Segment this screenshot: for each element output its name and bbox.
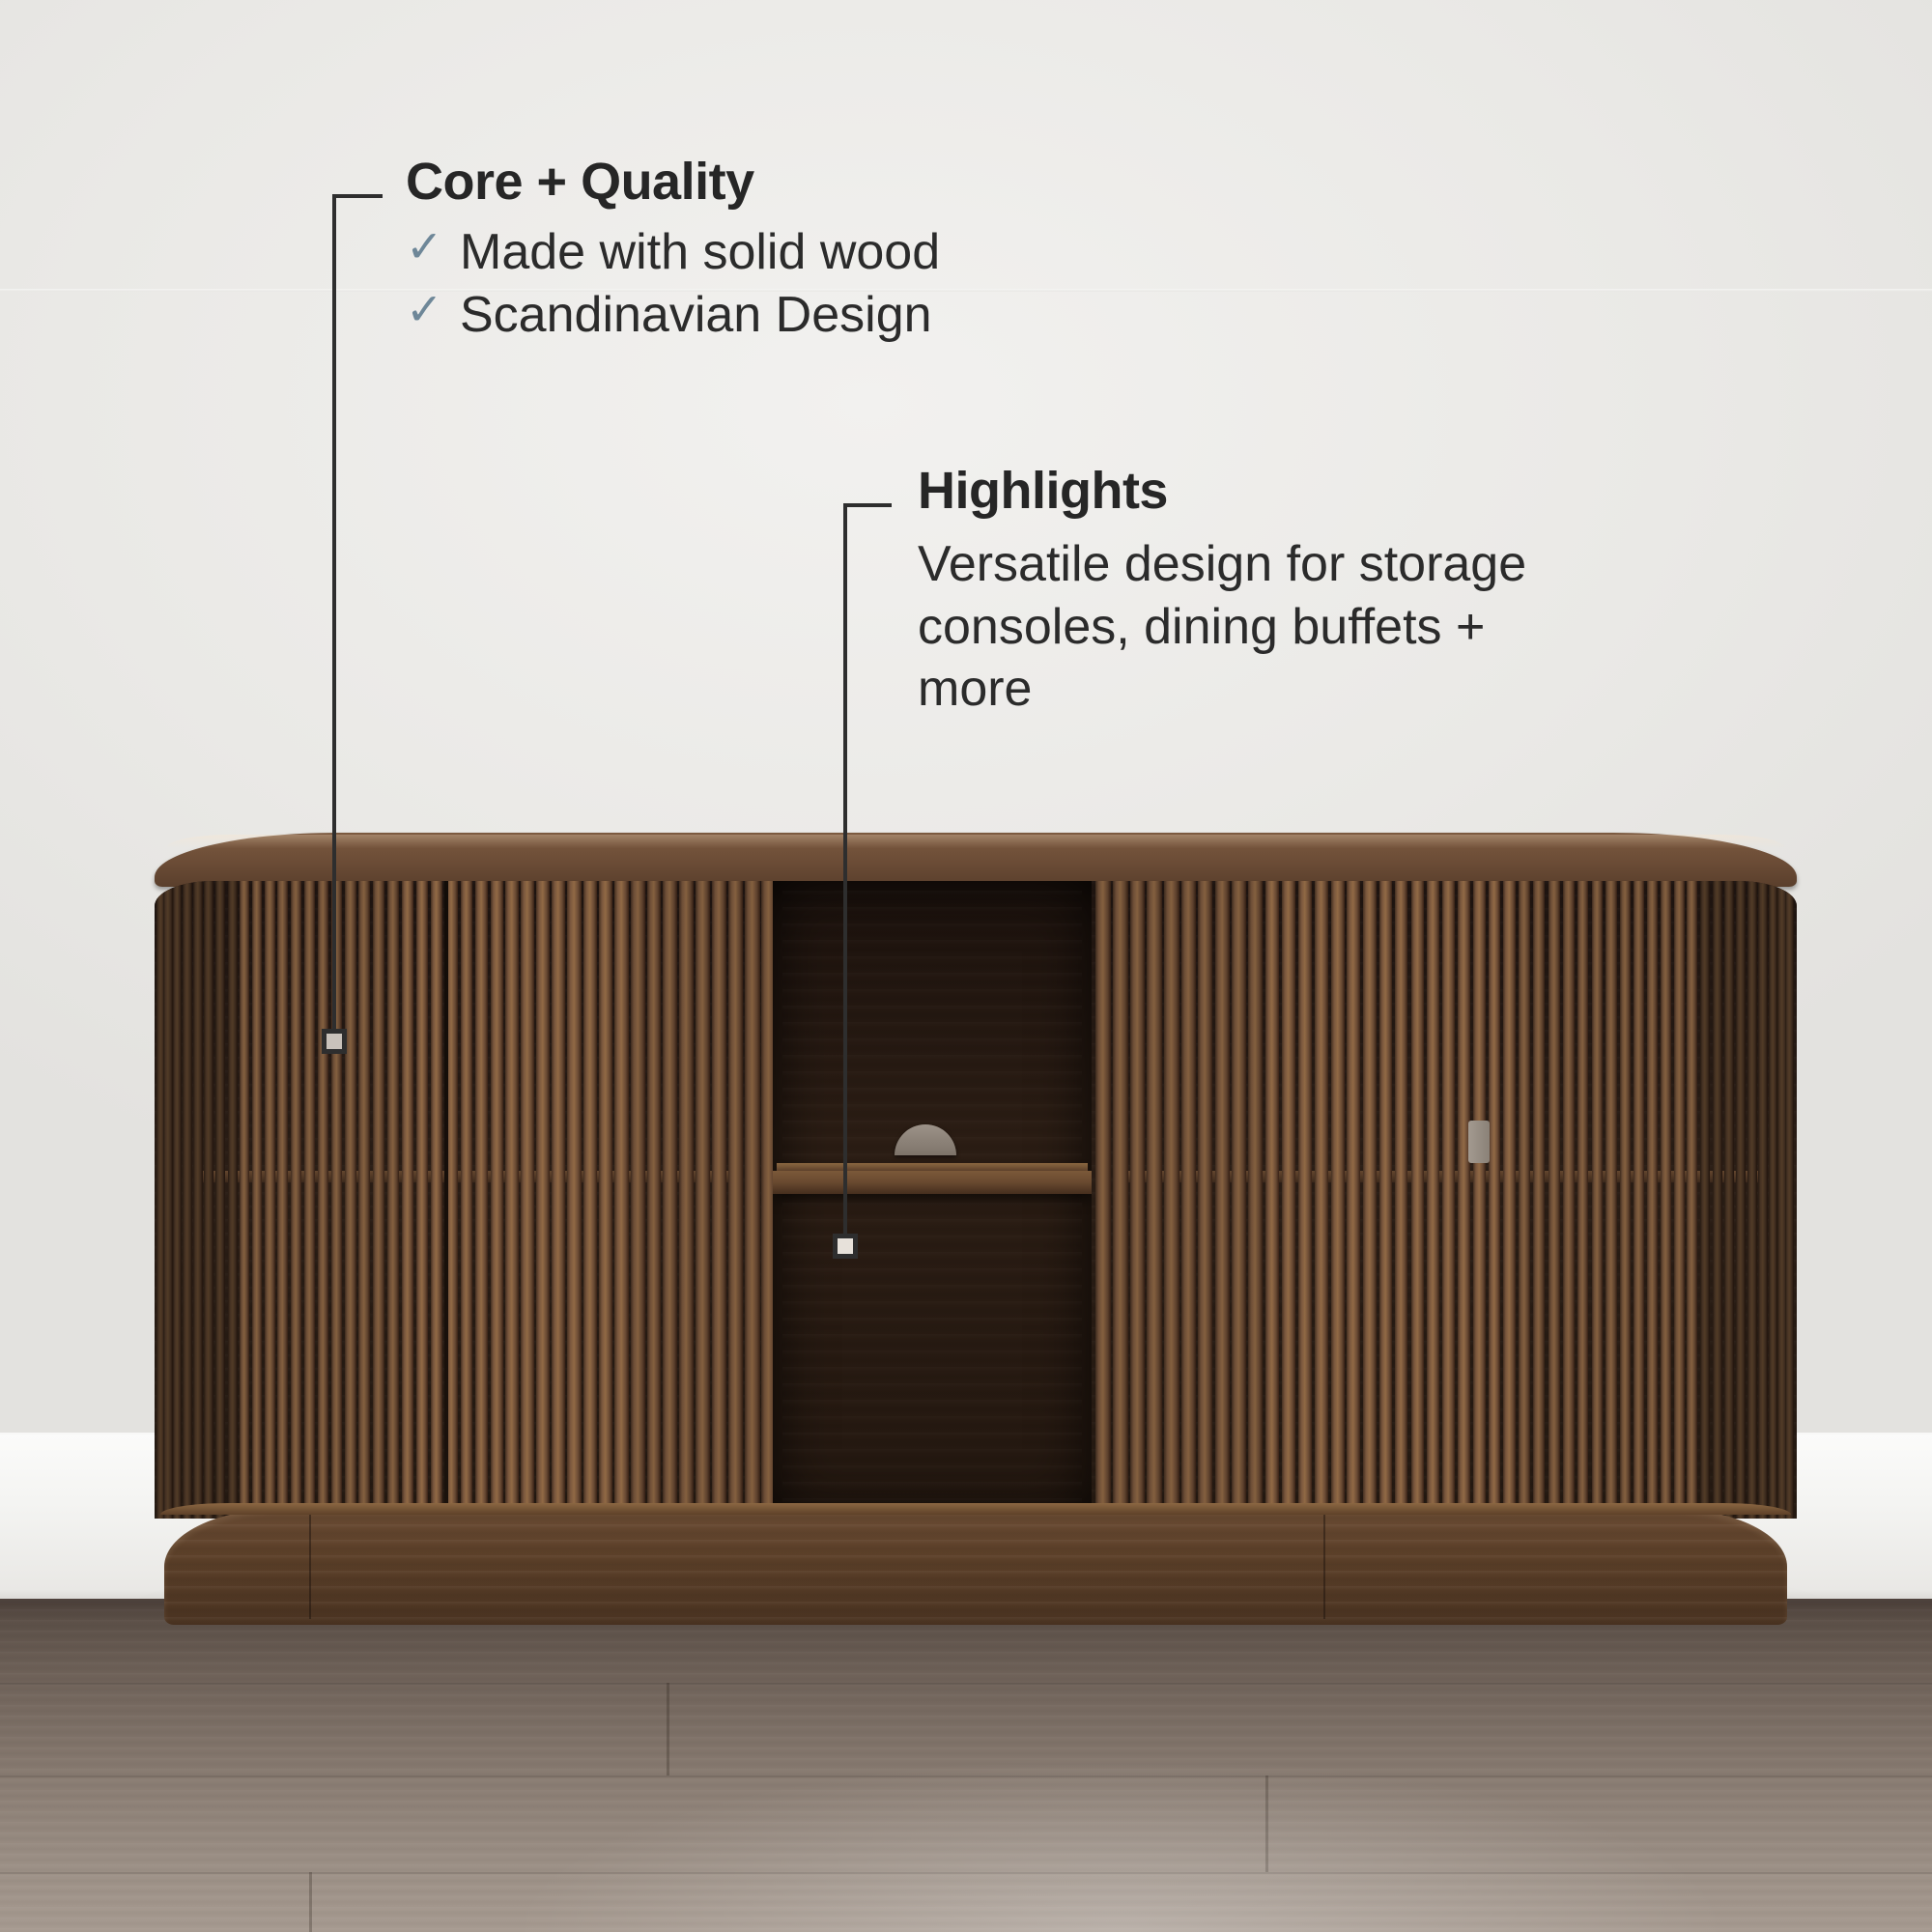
wood-slat — [599, 881, 612, 1519]
wood-slat — [1411, 881, 1424, 1519]
wood-slat — [416, 881, 428, 1519]
wood-slat — [345, 881, 356, 1519]
wall-seam-line — [0, 289, 1932, 292]
wood-slat — [1592, 881, 1603, 1519]
wood-slat — [491, 881, 503, 1519]
wood-slat — [1198, 881, 1212, 1519]
leader-horizontal-highlights — [843, 503, 892, 507]
wood-slat — [265, 881, 275, 1519]
wood-slat — [1736, 881, 1746, 1519]
wood-slat — [358, 881, 370, 1519]
leader-endpoint-marker-core-quality — [322, 1029, 347, 1054]
wood-slat — [728, 881, 744, 1519]
wood-slat — [1298, 881, 1312, 1519]
leader-vertical-core-quality — [332, 194, 336, 1054]
bullet-item: ✓ Scandinavian Design — [406, 287, 940, 344]
left-slatted-door[interactable] — [155, 881, 773, 1519]
wood-slat — [1282, 881, 1295, 1519]
wood-slat — [1747, 881, 1757, 1519]
center-bay-back-panel — [782, 891, 1082, 1519]
wood-slat — [173, 881, 182, 1519]
wood-slat — [679, 881, 694, 1519]
wood-slat — [1458, 881, 1470, 1519]
callout-highlights-body: Versatile design for storage consoles, d… — [918, 533, 1555, 720]
wood-slat — [1147, 881, 1162, 1519]
wood-slat — [1164, 881, 1179, 1519]
wood-slat — [1577, 881, 1589, 1519]
wood-slat — [1700, 881, 1710, 1519]
wood-slat — [1489, 881, 1500, 1519]
wood-slat — [1769, 881, 1777, 1519]
wood-slat — [193, 881, 203, 1519]
left-door-gap — [444, 881, 448, 1519]
plinth-top-lip — [160, 1503, 1791, 1515]
wood-slat — [1661, 881, 1671, 1519]
wood-slat — [1130, 881, 1146, 1519]
center-shelf — [773, 1171, 1092, 1194]
check-icon: ✓ — [406, 287, 442, 331]
wood-slat — [1634, 881, 1644, 1519]
wood-slat — [1363, 881, 1377, 1519]
bullet-item: ✓ Made with solid wood — [406, 224, 940, 281]
wood-slat — [1758, 881, 1767, 1519]
wood-slat — [431, 881, 443, 1519]
leader-vertical-highlights — [843, 503, 847, 1239]
sideboard-cabinet — [155, 833, 1797, 1644]
wood-slat — [1548, 881, 1560, 1519]
wood-slat — [1724, 881, 1734, 1519]
wood-slat — [631, 881, 645, 1519]
wood-slat — [1395, 881, 1407, 1519]
wood-slat — [1713, 881, 1722, 1519]
wood-slat — [215, 881, 225, 1519]
center-open-compartment — [773, 881, 1092, 1519]
wood-slat — [1248, 881, 1263, 1519]
wood-slat — [228, 881, 238, 1519]
callout-core-quality: Core + Quality ✓ Made with solid wood ✓ … — [406, 155, 940, 351]
wood-slat — [318, 881, 328, 1519]
infographic-canvas: Core + Quality ✓ Made with solid wood ✓ … — [0, 0, 1932, 1932]
plinth-seam — [309, 1515, 311, 1619]
bullet-label: Made with solid wood — [460, 224, 940, 281]
cabinet-body — [155, 881, 1797, 1519]
wood-slat — [1442, 881, 1455, 1519]
wood-slat — [183, 881, 191, 1519]
wood-slat — [1095, 881, 1111, 1519]
wood-slat — [1315, 881, 1328, 1519]
wood-slat — [1331, 881, 1345, 1519]
wood-slat — [1519, 881, 1530, 1519]
wood-slat — [291, 881, 301, 1519]
wood-slat — [761, 881, 773, 1519]
wood-slat — [1379, 881, 1392, 1519]
wood-slat — [712, 881, 727, 1519]
callout-highlights-title: Highlights — [918, 464, 1555, 518]
wood-slat — [696, 881, 710, 1519]
wood-slat — [614, 881, 629, 1519]
wood-slat — [663, 881, 677, 1519]
wood-slat — [536, 881, 550, 1519]
wood-slat — [1563, 881, 1575, 1519]
wood-slat — [1785, 881, 1794, 1519]
wood-slat — [567, 881, 581, 1519]
wood-slat — [475, 881, 488, 1519]
wood-slat — [163, 881, 172, 1519]
floor-sheen — [0, 1599, 1932, 1932]
wood-slat — [1620, 881, 1631, 1519]
wood-slat — [1427, 881, 1439, 1519]
wood-slat — [521, 881, 534, 1519]
wood-slat — [1687, 881, 1696, 1519]
wood-slat — [1647, 881, 1658, 1519]
wood-slat — [1232, 881, 1246, 1519]
wood-slat — [583, 881, 597, 1519]
right-slatted-door[interactable] — [1092, 881, 1797, 1519]
callout-highlights: Highlights Versatile design for storage … — [918, 464, 1555, 721]
leader-endpoint-marker-highlights — [833, 1234, 858, 1259]
wood-slat — [1181, 881, 1196, 1519]
wood-slat — [1533, 881, 1545, 1519]
wood-slat — [461, 881, 473, 1519]
wood-slat — [1674, 881, 1684, 1519]
wood-slat — [387, 881, 399, 1519]
wood-slat — [240, 881, 249, 1519]
wood-slat — [277, 881, 288, 1519]
cabinet-top-surface — [155, 833, 1797, 887]
wood-slat — [304, 881, 315, 1519]
wood-slat — [505, 881, 518, 1519]
wood-slat — [745, 881, 760, 1519]
wood-slat — [1605, 881, 1616, 1519]
plinth-seam — [1323, 1515, 1325, 1619]
wood-slat — [252, 881, 262, 1519]
leader-horizontal-core-quality — [332, 194, 383, 198]
wood-slat — [402, 881, 413, 1519]
bullet-label: Scandinavian Design — [460, 287, 932, 344]
wood-slat — [552, 881, 565, 1519]
wood-slat — [204, 881, 213, 1519]
cabinet-top-highlight — [166, 835, 1785, 848]
wood-slat — [1473, 881, 1486, 1519]
callout-core-quality-title: Core + Quality — [406, 155, 940, 209]
check-icon: ✓ — [406, 224, 442, 269]
cabinet-plinth-base — [164, 1509, 1787, 1625]
wood-slat — [373, 881, 384, 1519]
wood-slat — [1347, 881, 1360, 1519]
right-door-handle[interactable] — [1468, 1121, 1490, 1163]
plinth-grain-texture — [164, 1509, 1787, 1625]
wood-slat — [1503, 881, 1515, 1519]
wood-slat — [1215, 881, 1230, 1519]
wood-slat — [1265, 881, 1280, 1519]
wood-slat — [647, 881, 662, 1519]
center-shelf-front-edge — [777, 1163, 1088, 1171]
wood-slat — [1113, 881, 1128, 1519]
